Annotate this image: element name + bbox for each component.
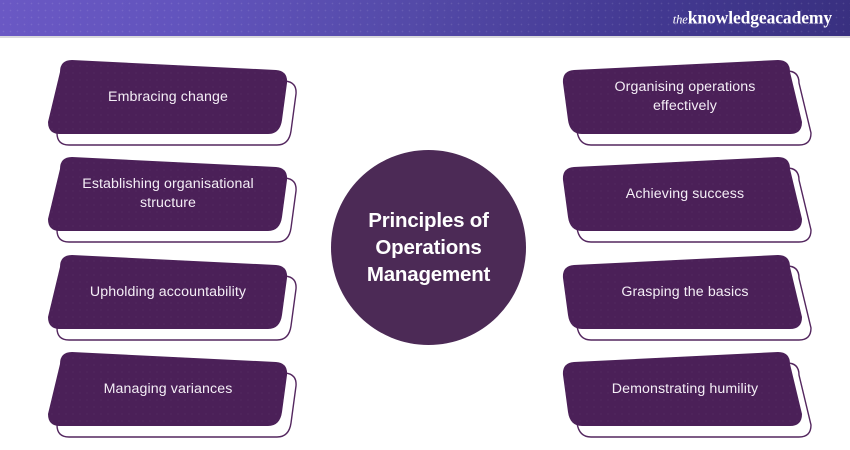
principle-box-right-3[interactable]: Grasping the basics: [558, 253, 806, 331]
principle-box-right-4[interactable]: Demonstrating humility: [558, 350, 806, 428]
box-solid-shape: [558, 253, 806, 331]
box-solid-shape: [558, 155, 806, 233]
knowledge-academy-logo: theknowledgeacademy: [673, 8, 832, 29]
box-solid-shape: [44, 253, 292, 331]
header-bar: theknowledgeacademy: [0, 0, 850, 36]
box-solid-shape: [558, 350, 806, 428]
box-solid-shape: [44, 58, 292, 136]
box-solid-shape: [44, 155, 292, 233]
principle-box-right-2[interactable]: Achieving success: [558, 155, 806, 233]
box-solid-shape: [44, 350, 292, 428]
principle-box-left-3[interactable]: Upholding accountability: [44, 253, 292, 331]
principle-box-left-4[interactable]: Managing variances: [44, 350, 292, 428]
box-solid-shape: [558, 58, 806, 136]
principle-box-left-1[interactable]: Embracing change: [44, 58, 292, 136]
header-divider: [0, 36, 850, 38]
logo-main-text: knowledgeacademy: [688, 8, 832, 28]
center-circle: Principles of Operations Management: [331, 150, 526, 345]
center-title: Principles of Operations Management: [345, 207, 512, 289]
logo-prefix-text: the: [673, 13, 688, 27]
principle-box-left-2[interactable]: Establishing organisational structure: [44, 155, 292, 233]
principle-box-right-1[interactable]: Organising operations effectively: [558, 58, 806, 136]
